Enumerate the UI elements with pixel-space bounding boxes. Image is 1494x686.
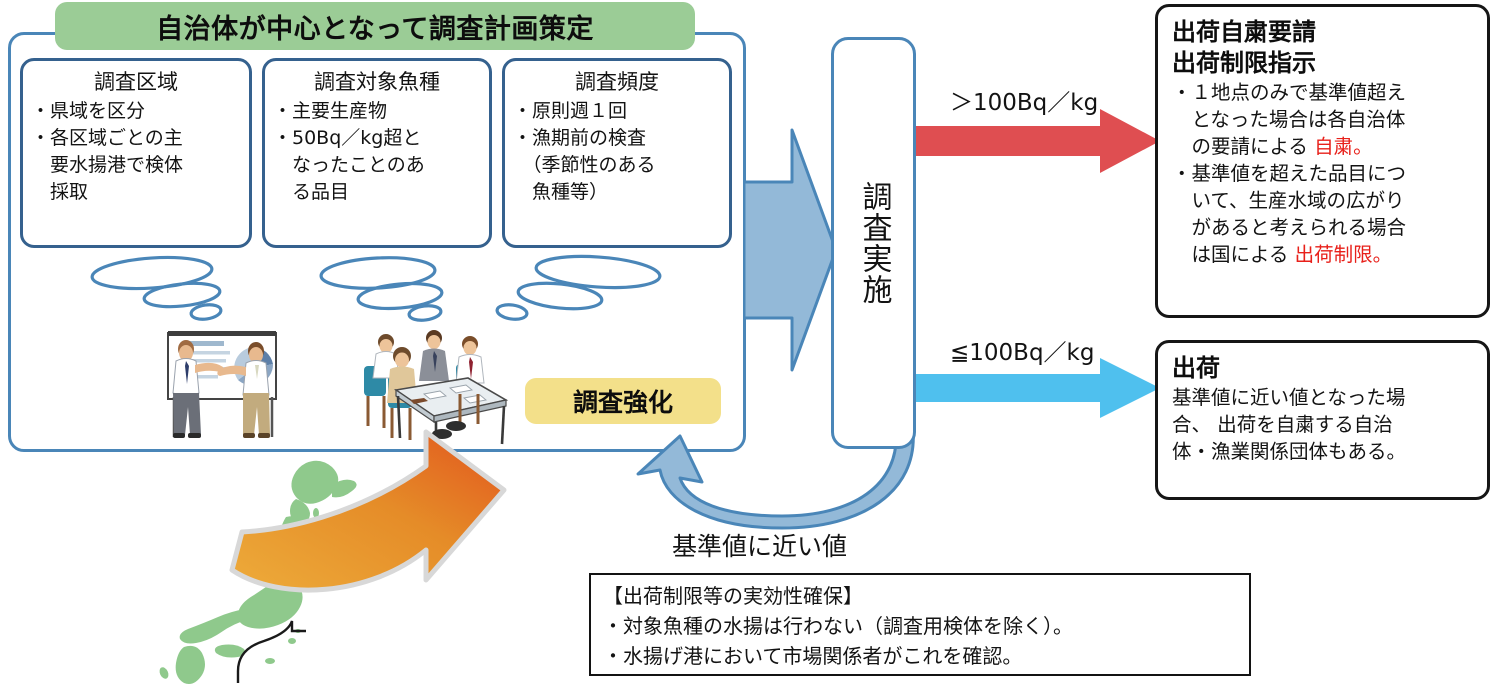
over-threshold-arrow-icon: [908, 109, 1162, 173]
criteria-card-target-species: 調査対象魚種 ・主要生産物 ・50Bq／kg超と なったことのあ る品目: [262, 58, 492, 248]
criteria-card-line: 要水揚港で検体: [31, 152, 241, 179]
criteria-card-line: ・漁期前の検査: [513, 125, 721, 152]
under-threshold-label: ≦100Bq／kg: [950, 333, 1094, 367]
criteria-card-line: （季節性のある: [513, 152, 721, 179]
near-threshold-label: 基準値に近い値: [672, 527, 847, 563]
criteria-card-line: る品目: [273, 179, 481, 206]
note-line: 【出荷制限等の実効性確保】: [603, 581, 1239, 611]
survey-execution-label: 調査実施: [857, 181, 891, 305]
panel-line: があると考えられる場合: [1172, 214, 1475, 241]
panel-line: となった場合は各自治体: [1172, 106, 1475, 133]
panel-line: 基準値に近い値となった場: [1172, 384, 1475, 411]
criteria-card-line: 採取: [31, 179, 241, 206]
panel-line-text: の要請による: [1172, 135, 1314, 158]
criteria-card-line: ・原則週１回: [513, 98, 721, 125]
criteria-card-line: なったことのあ: [273, 152, 481, 179]
criteria-card-survey-area: 調査区域 ・県域を区分 ・各区域ごとの主 要水揚港で検体 採取: [20, 58, 252, 248]
criteria-card-line: 魚種等）: [513, 179, 721, 206]
enhance-survey-box: 調査強化: [525, 378, 721, 424]
survey-input-arrow-icon: [744, 120, 840, 380]
panel-title: 出荷自粛要請 出荷制限指示: [1172, 17, 1475, 79]
criteria-card-line: ・50Bq／kg超と: [273, 125, 481, 152]
panel-line: の要請による 自粛。: [1172, 133, 1475, 160]
survey-plan-banner-label: 自治体が中心となって調査計画策定: [156, 7, 594, 46]
criteria-card-line: ・各区域ごとの主: [31, 125, 241, 152]
diagram-canvas: 自治体が中心となって調査計画策定 調査区域 ・県域を区分 ・各区域ごとの主 要水…: [0, 0, 1494, 686]
criteria-card-survey-frequency: 調査頻度 ・原則週１回 ・漁期前の検査 （季節性のある 魚種等）: [502, 58, 732, 248]
shipping-panel: 出荷 基準値に近い値となった場 合、 出荷を自粛する自治 体・漁業関係団体もある…: [1155, 340, 1490, 500]
panel-title: 出荷: [1172, 353, 1475, 384]
criteria-card-title: 調査対象魚種: [273, 67, 481, 97]
survey-execution-bar: 調査実施: [831, 37, 916, 449]
criteria-card-title: 調査頻度: [513, 67, 721, 97]
panel-line: 体・漁業関係団体もある。: [1172, 438, 1475, 465]
enhance-survey-label: 調査強化: [573, 383, 673, 419]
panel-line-text: は国による: [1172, 243, 1295, 266]
survey-plan-banner: 自治体が中心となって調査計画策定: [55, 2, 695, 50]
panel-line: ・基準値を超えた品目につ: [1172, 160, 1475, 187]
note-line: ・対象魚種の水揚は行わない（調査用検体を除く）。: [603, 611, 1239, 641]
effectiveness-note-box: 【出荷制限等の実効性確保】 ・対象魚種の水揚は行わない（調査用検体を除く）。 ・…: [589, 573, 1251, 676]
criteria-card-line: ・県域を区分: [31, 98, 241, 125]
shipping-restriction-panel: 出荷自粛要請 出荷制限指示 ・１地点のみで基準値超え となった場合は各自治体 の…: [1155, 4, 1490, 318]
panel-highlight-jishuku: 自粛。: [1314, 135, 1373, 158]
over-threshold-label: ＞100Bq／kg: [950, 83, 1098, 117]
criteria-card-title: 調査区域: [31, 67, 241, 97]
under-threshold-arrow-icon: [908, 358, 1162, 418]
note-line: ・水揚げ港において市場関係者がこれを確認。: [603, 641, 1239, 671]
criteria-card-line: ・主要生産物: [273, 98, 481, 125]
panel-highlight-shukaseigen: 出荷制限。: [1295, 243, 1393, 266]
panel-line: 合、 出荷を自粛する自治: [1172, 411, 1475, 438]
panel-line: ・１地点のみで基準値超え: [1172, 79, 1475, 106]
panel-line: は国による 出荷制限。: [1172, 241, 1475, 268]
neighbor-results-arrow-icon: [220, 420, 560, 610]
panel-line: いて、生産水域の広がり: [1172, 187, 1475, 214]
